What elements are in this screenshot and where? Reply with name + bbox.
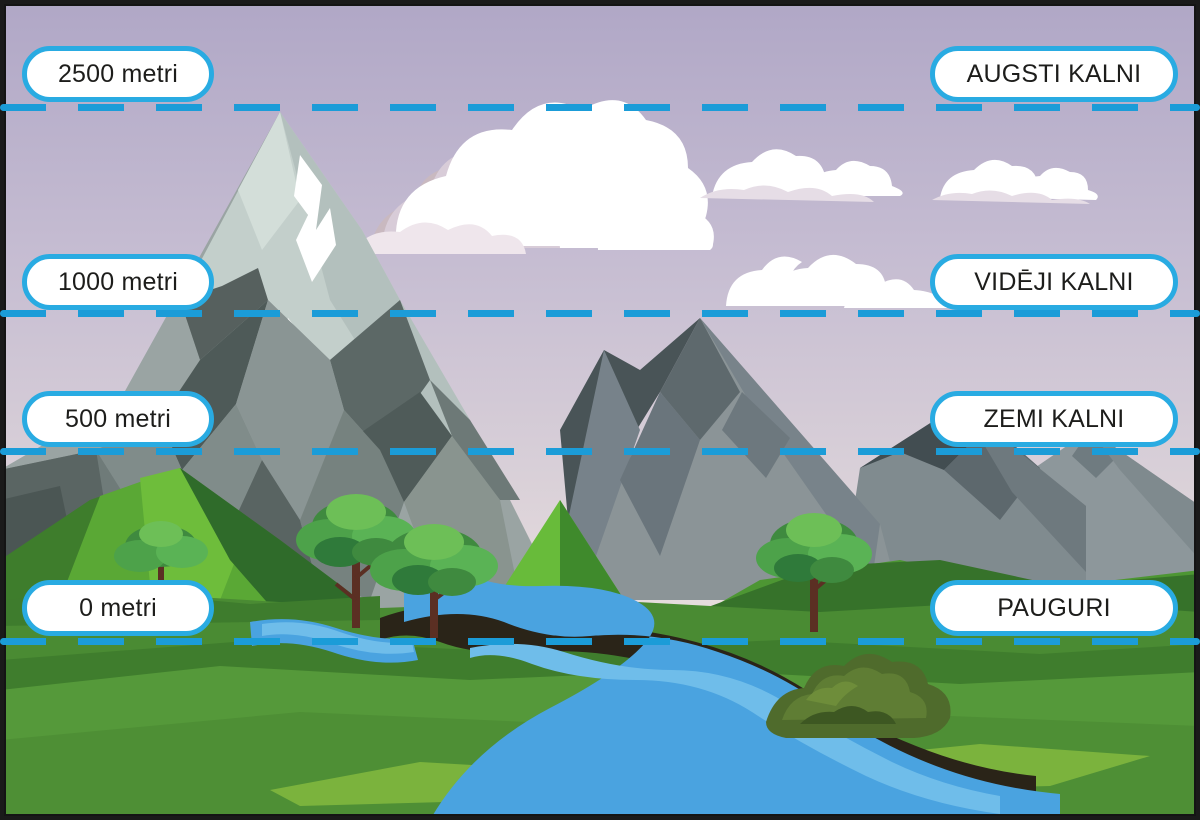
zone-label-hills[interactable]: PAUGURI: [930, 580, 1178, 636]
altitude-label-0-text: 0 metri: [79, 594, 157, 623]
elevation-dash-line-500: [0, 448, 1200, 455]
illustration-canvas: 2500 metri 1000 metri 500 metri 0 metri …: [0, 0, 1200, 820]
zone-label-low-text: ZEMI KALNI: [984, 405, 1125, 434]
zone-label-medium[interactable]: VIDĒJI KALNI: [930, 254, 1178, 310]
zone-label-low[interactable]: ZEMI KALNI: [930, 391, 1178, 447]
altitude-label-0[interactable]: 0 metri: [22, 580, 214, 636]
elevation-dash-line-0: [0, 638, 1200, 645]
elevation-dash-line-2500: [0, 104, 1200, 111]
altitude-label-1000[interactable]: 1000 metri: [22, 254, 214, 310]
altitude-label-500-text: 500 metri: [65, 405, 171, 434]
zone-label-medium-text: VIDĒJI KALNI: [974, 268, 1133, 297]
zone-label-high[interactable]: AUGSTI KALNI: [930, 46, 1178, 102]
altitude-label-2500-text: 2500 metri: [58, 60, 178, 89]
altitude-label-500[interactable]: 500 metri: [22, 391, 214, 447]
elevation-dash-line-1000: [0, 310, 1200, 317]
zone-label-hills-text: PAUGURI: [997, 594, 1110, 623]
altitude-label-2500[interactable]: 2500 metri: [22, 46, 214, 102]
zone-label-high-text: AUGSTI KALNI: [967, 60, 1142, 89]
altitude-label-1000-text: 1000 metri: [58, 268, 178, 297]
